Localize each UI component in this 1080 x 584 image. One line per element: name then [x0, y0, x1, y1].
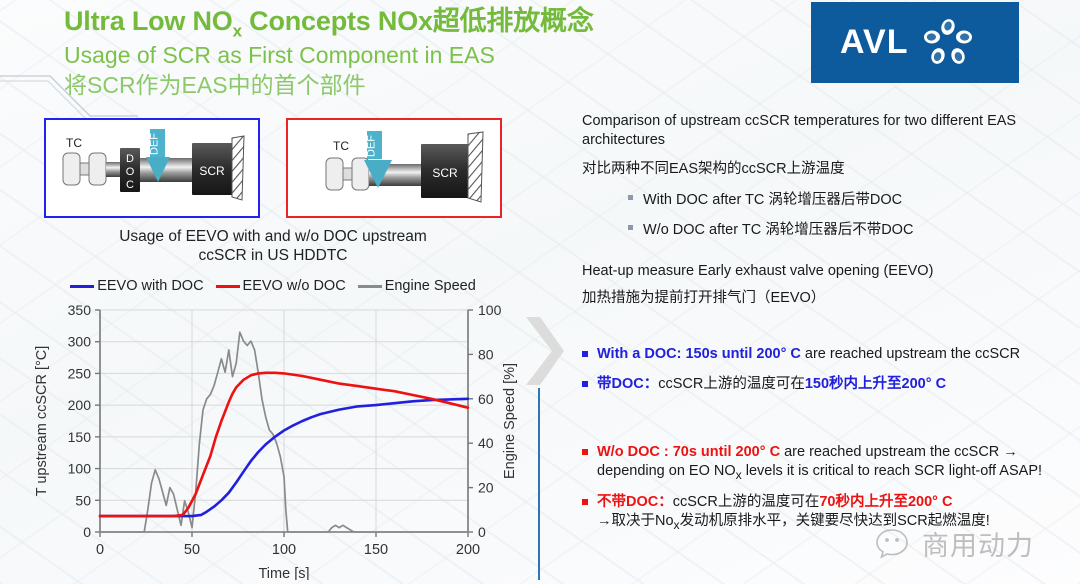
blue-bullet-cn-text: 带DOC：ccSCR上游的温度可在150秒内上升至200° C [597, 375, 946, 394]
blue-bullet-en-text: With a DOC: 150s until 200° C are reache… [597, 345, 1020, 364]
legend-swatch-blue [70, 285, 94, 288]
svg-text:0: 0 [478, 524, 486, 540]
title-line-2: Usage of SCR as First Component in EAS [64, 42, 784, 70]
blue-bullet-cn-c: 150秒内上升至200° C [805, 376, 946, 392]
svg-text:100: 100 [478, 302, 502, 318]
svg-text:50: 50 [75, 492, 91, 508]
legend-item-engine-speed: Engine Speed [358, 278, 476, 294]
legend-swatch-gray [358, 285, 382, 288]
svg-text:300: 300 [68, 334, 92, 350]
avl-pinwheel-icon [922, 17, 974, 69]
red-bullet-cn-b: ccSCR上游的温度可在 [673, 494, 820, 510]
blue-bullet-bold: With a DOC: 150s until 200° C [597, 346, 801, 362]
chevron-right-icon [524, 315, 566, 387]
sub-item-with-doc: With DOC after TC 涡轮增压器后带DOC [628, 188, 1050, 209]
svg-text:0: 0 [83, 524, 91, 540]
red-bullet-cn-e: 发动机原排水平，关键要尽快达到SCR起燃温度! [680, 513, 990, 529]
chart-title: Usage of EEVO with and w/o DOC upstream … [38, 228, 508, 266]
blue-bullet-cn: 带DOC：ccSCR上游的温度可在150秒内上升至200° C [582, 375, 1048, 394]
svg-text:250: 250 [68, 365, 92, 381]
slide-root: Ultra Low NOx Concepts NOx超低排放概念 Usage o… [0, 0, 1080, 584]
chart-title-line-1: Usage of EEVO with and w/o DOC upstream [38, 228, 508, 247]
red-bullet-rest-2: levels it is critical to reach SCR light… [742, 463, 1042, 479]
sub-item-label-1: W/o DOC after TC 涡轮增压器后不带DOC [643, 218, 913, 239]
red-bullet-cn-c: 70秒内上升至200° C [819, 494, 952, 510]
sub-item-label-0: With DOC after TC 涡轮增压器后带DOC [643, 188, 902, 209]
svg-text:T upstream ccSCR [°C]: T upstream ccSCR [°C] [34, 346, 50, 497]
red-bullet-en: W/o DOC : 70s until 200° C are reached u… [582, 443, 1048, 483]
avl-logo-text: AVL [840, 23, 908, 62]
svg-text:100: 100 [272, 542, 296, 558]
heatup-text-en: Heat-up measure Early exhaust valve open… [582, 262, 1052, 281]
bullet-square-red-icon [582, 449, 588, 455]
red-bullet-cn-d: →取决于No [597, 513, 674, 529]
svg-text:50: 50 [184, 542, 200, 558]
chart-title-line-2: ccSCR in US HDDTC [38, 247, 508, 266]
red-bullet-cn: 不带DOC：ccSCR上游的温度可在70秒内上升至200° C→取决于Nox发动… [582, 493, 1048, 533]
svg-text:O: O [126, 166, 135, 178]
blue-bullet-cn-a: 带DOC： [597, 376, 658, 392]
blue-bullet-cn-b: ccSCR上游的温度可在 [658, 376, 805, 392]
intro-text-en: Comparison of upstream ccSCR temperature… [582, 112, 1050, 151]
svg-text:TC: TC [333, 139, 349, 153]
red-bullet-en-text: W/o DOC : 70s until 200° C are reached u… [597, 443, 1048, 483]
red-bullet-cn-a: 不带DOC： [597, 494, 673, 510]
heatup-block: Heat-up measure Early exhaust valve open… [582, 262, 1052, 309]
legend-item-eevo-wo-doc: EEVO w/o DOC [216, 278, 346, 294]
blue-bullet-en: With a DOC: 150s until 200° C are reache… [582, 345, 1048, 364]
heatup-text-cn: 加热措施为提前打开排气门（EEVO） [582, 288, 1052, 308]
legend-swatch-red [216, 285, 240, 288]
svg-text:0: 0 [96, 542, 104, 558]
svg-text:80: 80 [478, 346, 494, 362]
bullet-square-red-icon [582, 499, 588, 505]
sub-item-without-doc: W/o DOC after TC 涡轮增压器后不带DOC [628, 218, 1050, 239]
red-bullet-bold: W/o DOC : 70s until 200° C [597, 444, 780, 460]
vertical-divider [538, 388, 540, 580]
svg-text:200: 200 [68, 397, 92, 413]
svg-text:Time [s]: Time [s] [258, 566, 309, 580]
intro-block: Comparison of upstream ccSCR temperature… [582, 112, 1050, 239]
bullet-square-icon [628, 195, 633, 200]
blue-bullets-block: With a DOC: 150s until 200° C are reache… [582, 338, 1048, 394]
chart-plot: 0501001502002503003500204060801000501001… [30, 300, 530, 580]
bullet-square-icon [628, 225, 633, 230]
bullet-square-blue-icon [582, 381, 588, 387]
svg-text:200: 200 [456, 542, 480, 558]
svg-text:C: C [126, 179, 134, 191]
eas-diagram-without-doc: TC DEF SCR [286, 118, 502, 218]
svg-text:150: 150 [364, 542, 388, 558]
svg-text:40: 40 [478, 435, 494, 451]
page-title: Ultra Low NOx Concepts NOx超低排放概念 Usage o… [64, 6, 784, 100]
svg-text:TC: TC [66, 136, 82, 150]
svg-text:60: 60 [478, 391, 494, 407]
red-bullets-block: W/o DOC : 70s until 200° C are reached u… [582, 436, 1048, 534]
eas-diagram-with-doc: TC D O C DEF SCR [44, 118, 260, 218]
legend-label-1: EEVO w/o DOC [243, 278, 346, 294]
title-line-1: Ultra Low NOx Concepts NOx超低排放概念 [64, 6, 784, 41]
title-line-3: 将SCR作为EAS中的首个部件 [64, 72, 784, 100]
svg-text:DEF: DEF [149, 133, 161, 155]
svg-text:Engine Speed [%]: Engine Speed [%] [502, 363, 518, 479]
legend-label-0: EEVO with DOC [97, 278, 203, 294]
svg-text:100: 100 [68, 461, 92, 477]
legend-label-2: Engine Speed [385, 278, 476, 294]
svg-text:SCR: SCR [199, 164, 225, 178]
svg-text:DEF: DEF [366, 135, 378, 157]
blue-bullet-rest: are reached upstream the ccSCR [801, 346, 1020, 362]
red-bullet-cn-text: 不带DOC：ccSCR上游的温度可在70秒内上升至200° C→取决于Nox发动… [597, 493, 990, 533]
bullet-square-blue-icon [582, 351, 588, 357]
svg-text:350: 350 [68, 302, 92, 318]
svg-text:150: 150 [68, 429, 92, 445]
svg-text:20: 20 [478, 480, 494, 496]
intro-text-cn: 对比两种不同EAS架构的ccSCR上游温度 [582, 159, 1050, 179]
avl-logo: AVL [812, 3, 1018, 82]
chart-legend: EEVO with DOC EEVO w/o DOC Engine Speed [34, 278, 512, 294]
legend-item-eevo-with-doc: EEVO with DOC [70, 278, 203, 294]
svg-text:D: D [126, 153, 134, 165]
svg-text:SCR: SCR [432, 166, 458, 180]
